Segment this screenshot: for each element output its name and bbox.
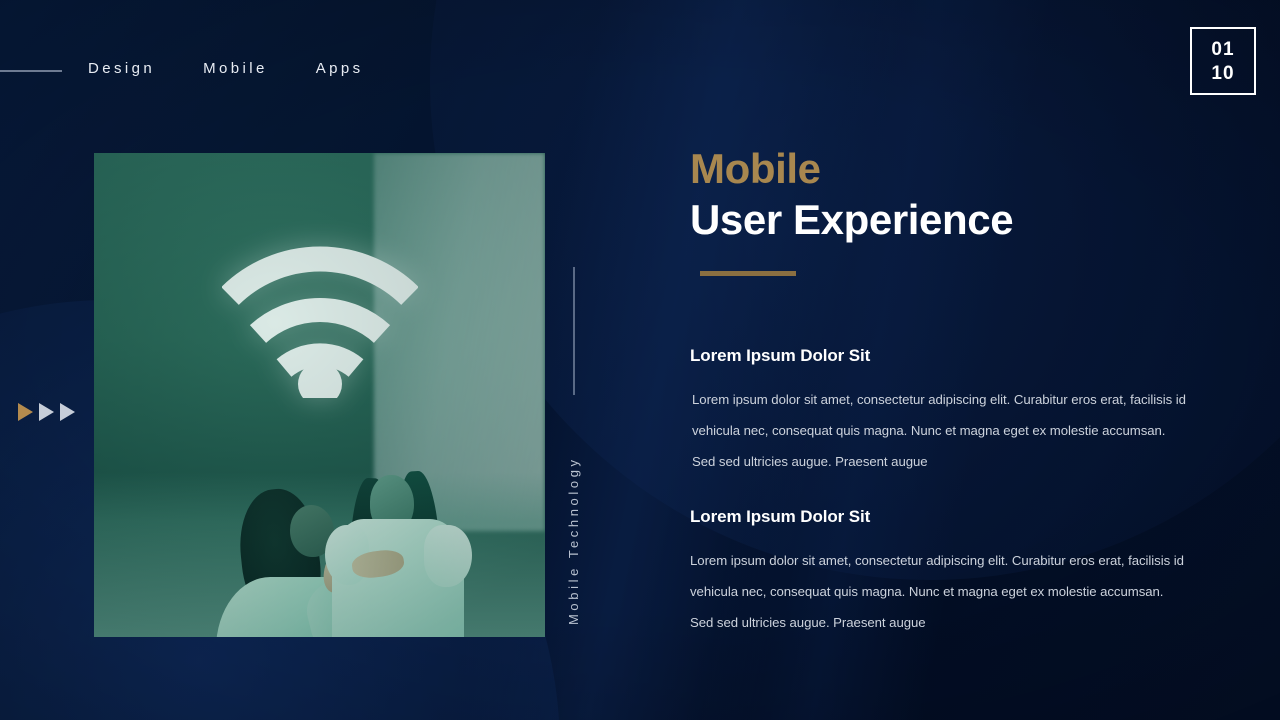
content-block-1-text: Lorem ipsum dolor sit amet, consectetur …: [690, 384, 1190, 477]
page-number-total: 10: [1211, 62, 1234, 85]
caption-vertical-rule: [573, 267, 575, 395]
page-title: User Experience: [690, 196, 1013, 244]
content-block-2-heading: Lorem Ipsum Dolor Sit: [690, 505, 1190, 529]
photo-color-tint: [94, 153, 545, 637]
page-number-current: 01: [1211, 38, 1234, 61]
photo-vertical-caption: Mobile Technology: [566, 425, 581, 625]
content-block-1: Lorem Ipsum Dolor Sit Lorem ipsum dolor …: [690, 344, 1190, 477]
play-triangle-icon-3: [60, 403, 75, 421]
top-navigation: Design Mobile Apps: [88, 58, 363, 80]
feature-photo: [94, 153, 545, 637]
title-eyebrow: Mobile: [690, 145, 821, 193]
nav-item-mobile[interactable]: Mobile: [203, 58, 268, 80]
play-triangle-icon-1: [18, 403, 33, 421]
arrow-indicator-group: [18, 403, 75, 421]
content-block-2: Lorem Ipsum Dolor Sit Lorem ipsum dolor …: [690, 505, 1190, 638]
nav-leading-rule: [0, 70, 62, 72]
presentation-slide: Design Mobile Apps 01 10: [0, 0, 1280, 720]
page-number-badge: 01 10: [1190, 27, 1256, 95]
title-underline-accent: [700, 271, 796, 276]
content-block-1-heading: Lorem Ipsum Dolor Sit: [690, 344, 1190, 368]
nav-item-design[interactable]: Design: [88, 58, 155, 80]
content-block-2-text: Lorem ipsum dolor sit amet, consectetur …: [690, 545, 1190, 638]
nav-item-apps[interactable]: Apps: [316, 58, 364, 80]
play-triangle-icon-2: [39, 403, 54, 421]
